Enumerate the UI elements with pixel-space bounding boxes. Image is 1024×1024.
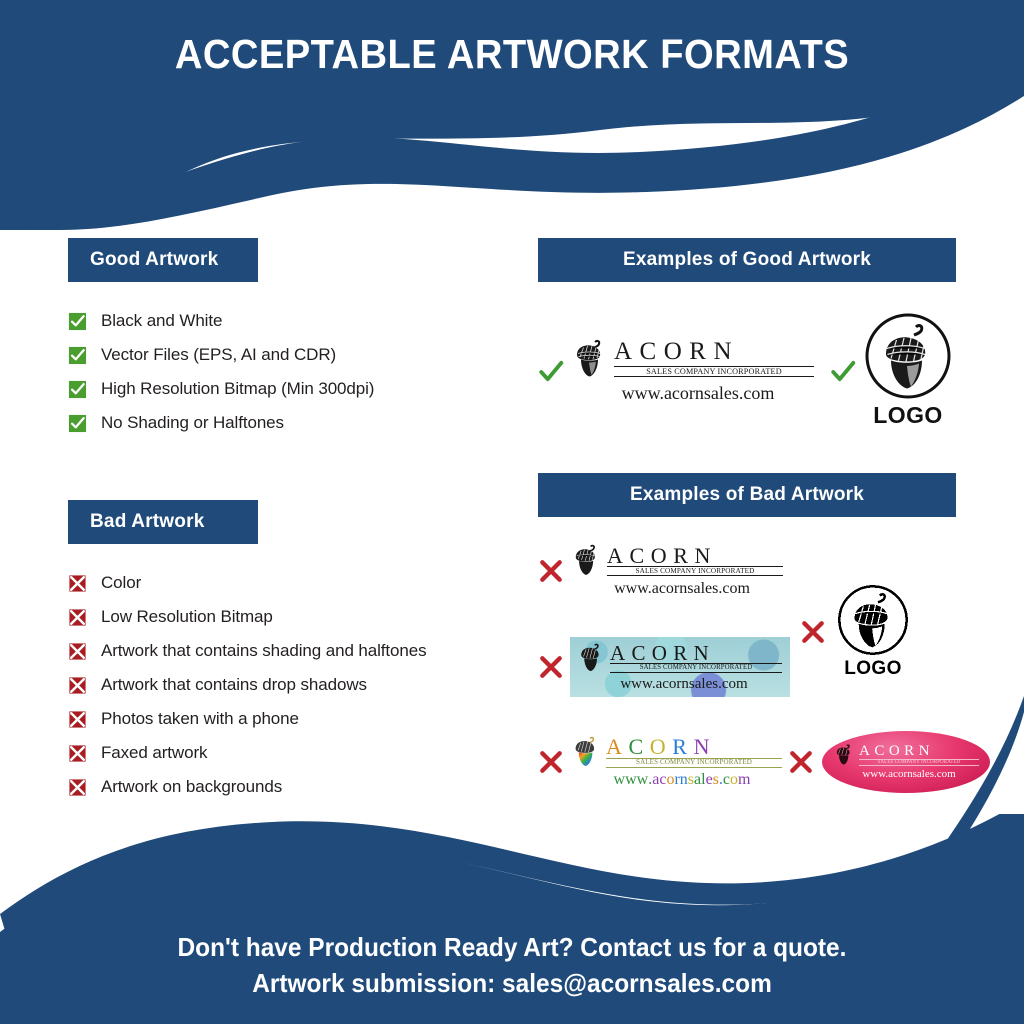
footer-contact: Don't have Production Ready Art? Contact…: [0, 930, 1024, 1002]
examples-good-bar-label: Examples of Good Artwork: [623, 249, 871, 271]
list-item-label: Artwork that contains drop shadows: [101, 675, 367, 695]
list-item-label: High Resolution Bitmap (Min 300dpi): [101, 379, 374, 399]
examples-bad-bar: Examples of Bad Artwork: [538, 473, 956, 517]
acorn-logo-circle-good: LOGO: [864, 312, 952, 429]
red-x-icon: [68, 710, 87, 729]
red-x-icon: [68, 608, 87, 627]
acorn-word: ACORN: [606, 736, 782, 758]
red-x-mark-icon: [788, 749, 814, 775]
page-title: ACCEPTABLE ARTWORK FORMATS: [36, 31, 988, 78]
list-item-label: Color: [101, 573, 141, 593]
list-item-label: Artwork on backgrounds: [101, 777, 282, 797]
examples-bad-bar-label: Examples of Bad Artwork: [630, 484, 864, 506]
acorn-wordmark-rainbow: ACORN SALES COMPANY INCORPORATED www.aco…: [570, 735, 782, 789]
list-item: Artwork that contains shading and halfto…: [68, 634, 508, 668]
examples-good-bar: Examples of Good Artwork: [538, 238, 956, 282]
good-artwork-list: Black and White Vector Files (EPS, AI an…: [68, 304, 508, 440]
acorn-word: ACORN: [859, 744, 979, 759]
acorn-url: www.acornsales.com: [849, 768, 969, 781]
acorn-icon: [570, 543, 603, 578]
right-column: Examples of Good Artwork: [538, 238, 958, 797]
bad-examples-grid: ACORN SALES COMPANY INCORPORATED www.aco…: [538, 527, 958, 797]
acorn-icon: [833, 743, 855, 767]
bad-example-pink-oval: ACORN SALES COMPANY INCORPORATED www.aco…: [788, 731, 990, 793]
acorn-wordmark-good: ACORN SALES COMPANY INCORPORATED www.aco…: [570, 338, 814, 404]
good-artwork-bar: Good Artwork: [68, 238, 258, 282]
bad-example-plain: ACORN SALES COMPANY INCORPORATED www.aco…: [538, 543, 783, 598]
logo-word: LOGO: [873, 402, 943, 429]
bad-example-color: ACORN SALES COMPANY INCORPORATED www.aco…: [538, 735, 782, 789]
red-x-mark-icon: [538, 749, 564, 775]
acorn-icon: [570, 338, 610, 380]
bad-artwork-list: Color Low Resolution Bitmap Artwork that…: [68, 566, 508, 804]
list-item: Artwork on backgrounds: [68, 770, 508, 804]
poster-canvas: ACCEPTABLE ARTWORK FORMATS Good Artwork …: [0, 0, 1024, 1024]
acorn-tagline: SALES COMPANY INCORPORATED: [606, 758, 782, 768]
list-item: No Shading or Halftones: [68, 406, 508, 440]
acorn-word: ACORN: [614, 340, 814, 365]
green-check-icon: [68, 312, 87, 331]
acorn-word: ACORN: [610, 643, 782, 664]
acorn-wordmark: ACORN SALES COMPANY INCORPORATED www.aco…: [576, 642, 782, 693]
footer-line-2: Artwork submission: sales@acornsales.com: [31, 966, 994, 1002]
list-item: Low Resolution Bitmap: [68, 600, 508, 634]
acorn-circle-icon: [864, 312, 952, 400]
green-check-icon: [68, 380, 87, 399]
acorn-circle-icon: [836, 583, 910, 657]
green-check-icon: [68, 346, 87, 365]
list-item: Black and White: [68, 304, 508, 338]
red-x-icon: [68, 778, 87, 797]
list-item-label: Artwork that contains shading and halfto…: [101, 641, 427, 661]
list-item-label: No Shading or Halftones: [101, 413, 284, 433]
list-item: Color: [68, 566, 508, 600]
list-item-label: Vector Files (EPS, AI and CDR): [101, 345, 336, 365]
left-column: Good Artwork Black and White Vector File…: [68, 238, 508, 804]
acorn-url: www.acornsales.com: [598, 383, 798, 404]
red-x-icon: [68, 676, 87, 695]
acorn-url: www.acornsales.com: [594, 580, 770, 598]
bad-artwork-bar: Bad Artwork: [68, 500, 258, 544]
list-item-label: Photos taken with a phone: [101, 709, 299, 729]
acorn-url: www.acornsales.com: [594, 771, 770, 789]
acorn-logo-circle-lowres: LOGO: [836, 583, 910, 680]
bad-artwork-bar-label: Bad Artwork: [90, 511, 204, 533]
green-check-icon: [68, 414, 87, 433]
list-item: Artwork that contains drop shadows: [68, 668, 508, 702]
logo-word: LOGO: [844, 658, 901, 680]
acorn-url: www.acornsales.com: [598, 676, 770, 693]
list-item: Vector Files (EPS, AI and CDR): [68, 338, 508, 372]
good-artwork-bar-label: Good Artwork: [90, 249, 218, 271]
acorn-tagline: SALES COMPANY INCORPORATED: [610, 663, 782, 673]
list-item-label: Black and White: [101, 311, 222, 331]
red-x-mark-icon: [538, 558, 564, 584]
acorn-icon: [576, 642, 606, 674]
good-examples-row: ACORN SALES COMPANY INCORPORATED www.aco…: [538, 312, 958, 429]
red-x-icon: [68, 574, 87, 593]
acorn-icon: [570, 735, 602, 769]
footer-line-1: Don't have Production Ready Art? Contact…: [31, 930, 994, 966]
list-item-label: Low Resolution Bitmap: [101, 607, 273, 627]
red-x-icon: [68, 642, 87, 661]
bad-example-lowres: LOGO: [800, 583, 910, 680]
acorn-wordmark-oval: ACORN SALES COMPANY INCORPORATED www.aco…: [833, 743, 979, 781]
acorn-word: ACORN: [607, 545, 783, 567]
red-x-icon: [68, 744, 87, 763]
list-item: Photos taken with a phone: [68, 702, 508, 736]
green-check-mark-icon: [538, 358, 564, 384]
red-x-mark-icon: [800, 619, 826, 645]
acorn-wordmark: ACORN SALES COMPANY INCORPORATED www.aco…: [570, 543, 783, 598]
acorn-tagline: SALES COMPANY INCORPORATED: [614, 366, 814, 377]
red-x-mark-icon: [538, 654, 564, 680]
list-item: High Resolution Bitmap (Min 300dpi): [68, 372, 508, 406]
acorn-tagline: SALES COMPANY INCORPORATED: [607, 566, 783, 576]
acorn-tagline: SALES COMPANY INCORPORATED: [859, 759, 979, 767]
bad-example-background: ACORN SALES COMPANY INCORPORATED www.aco…: [538, 637, 790, 697]
green-check-mark-icon: [830, 358, 856, 384]
list-item: Faxed artwork: [68, 736, 508, 770]
list-item-label: Faxed artwork: [101, 743, 207, 763]
